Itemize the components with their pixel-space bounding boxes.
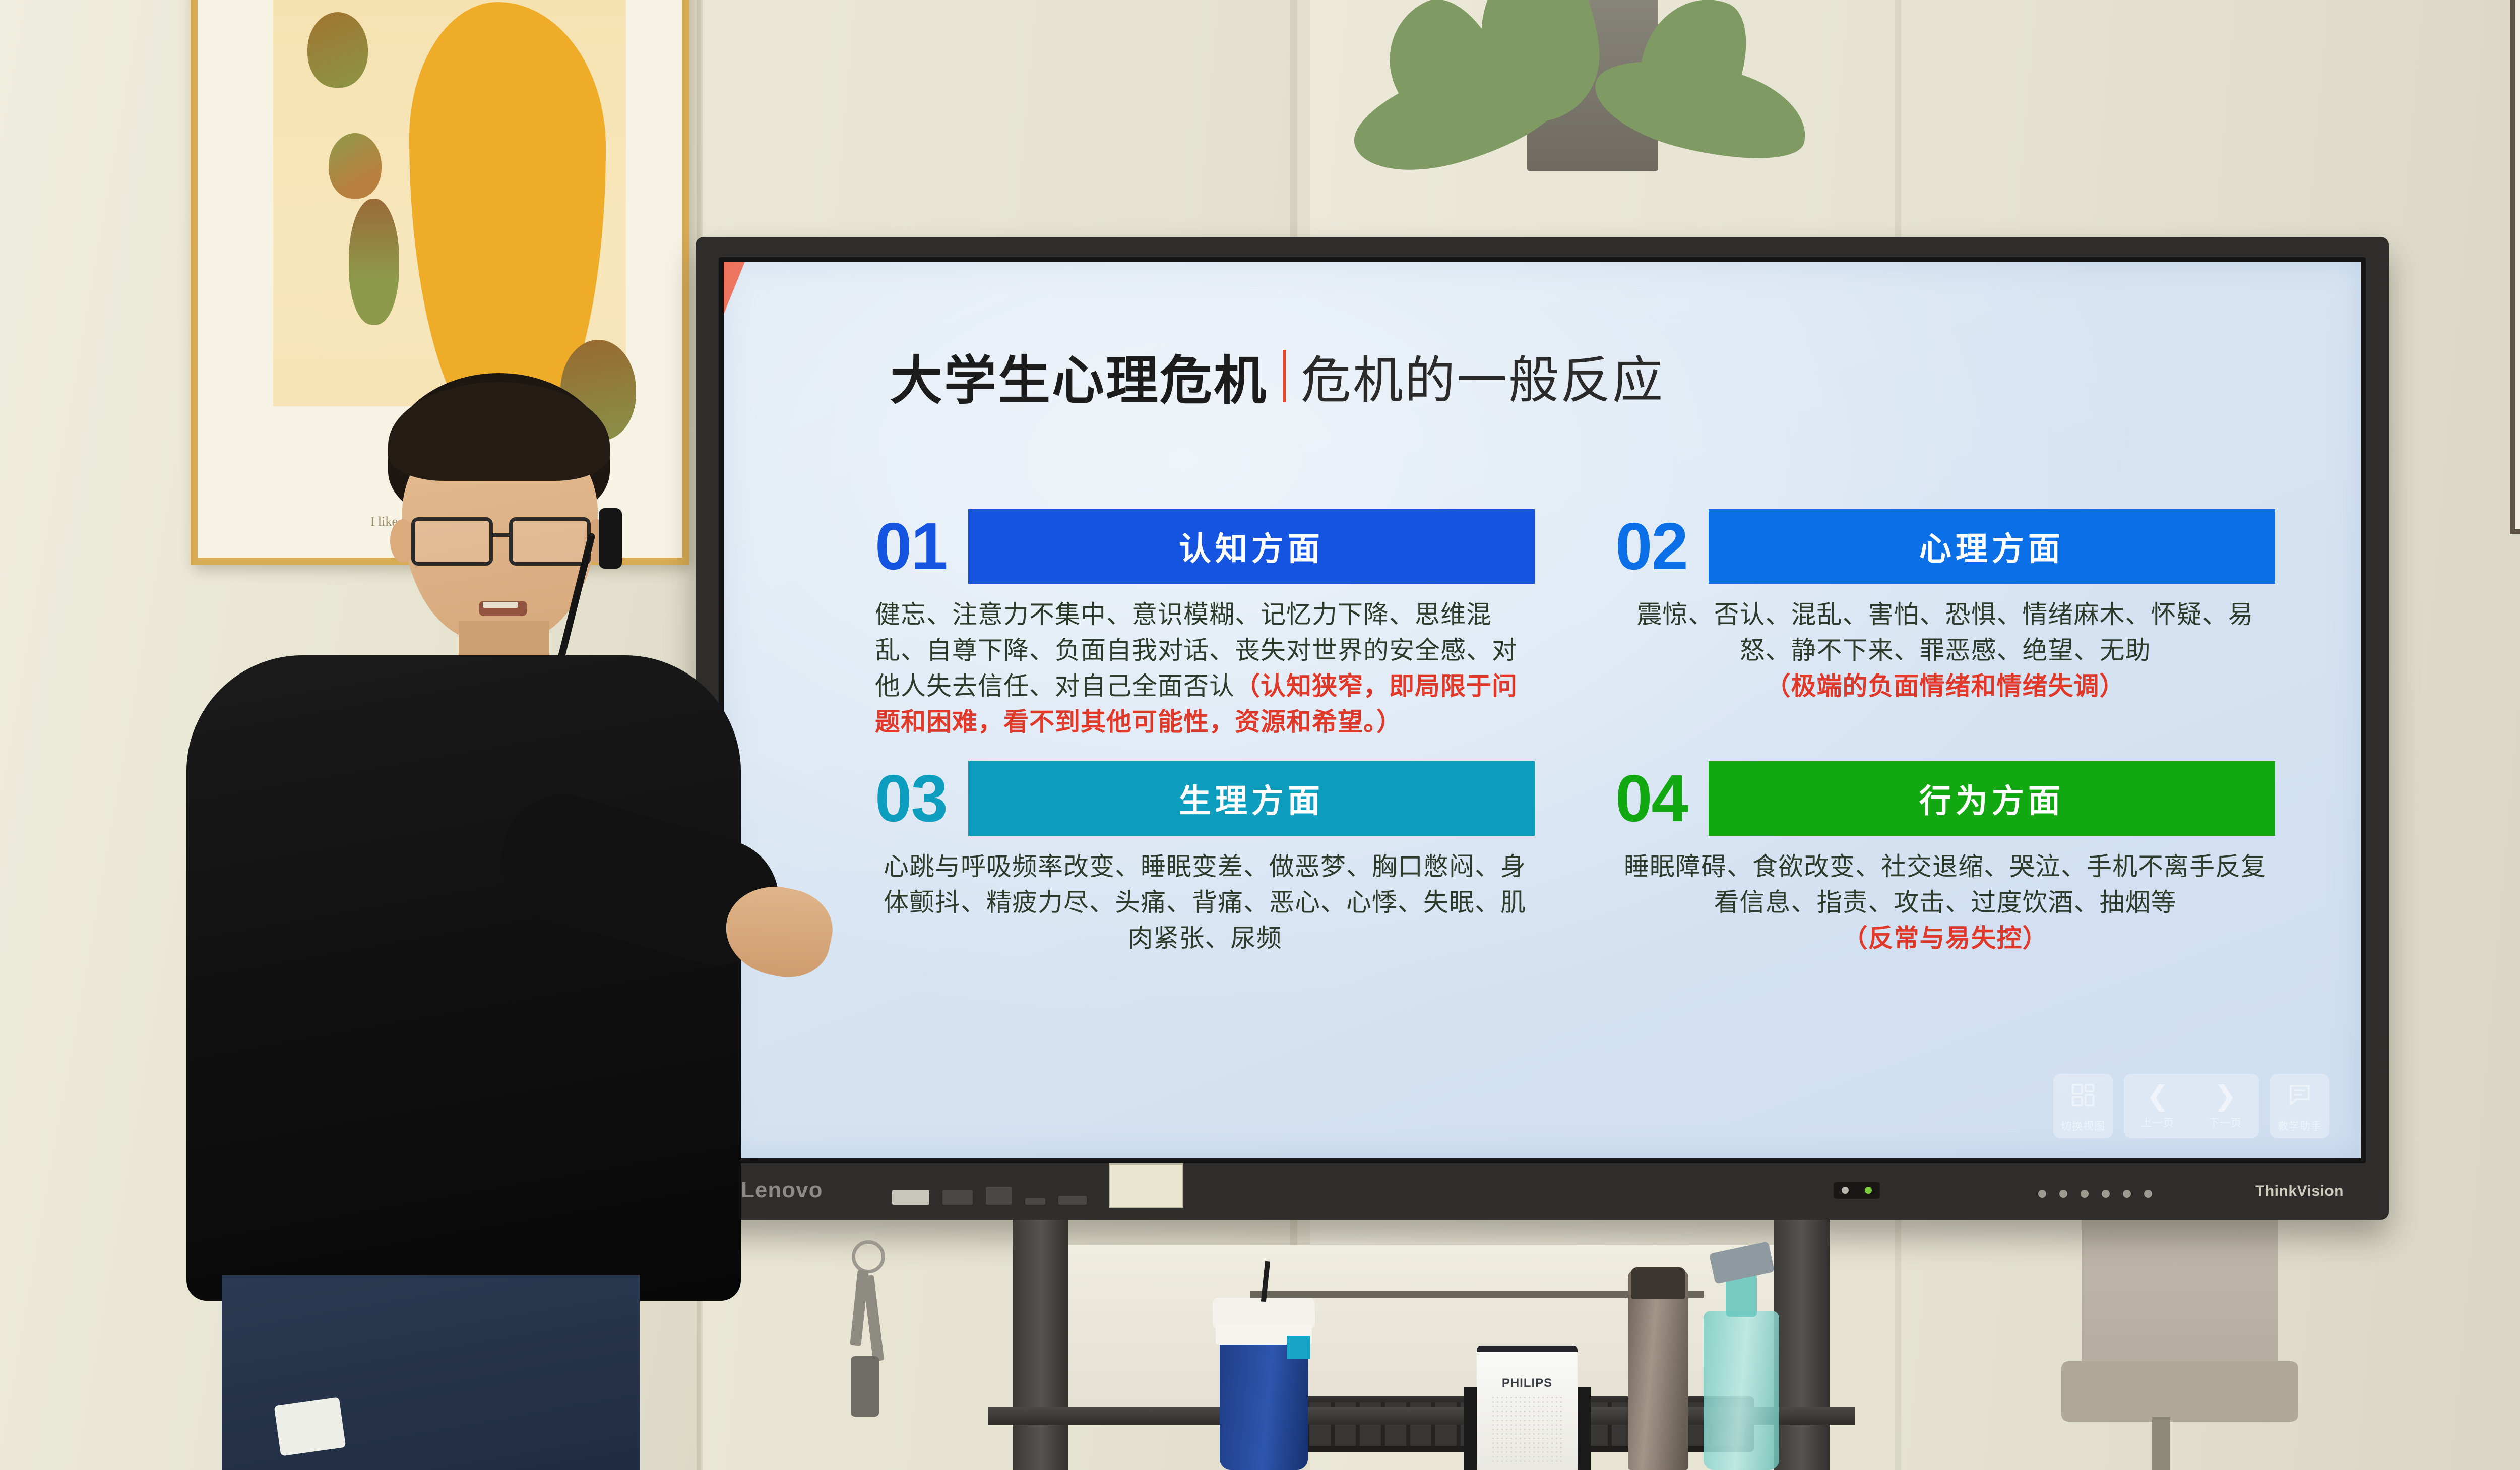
classroom-scene: PINE I like this place very much 大学生心理危机… xyxy=(0,0,2520,1470)
sections-grid: 01 认知方面 健忘、注意力不集中、意识模糊、记忆力下降、思维混乱、自尊下降、负… xyxy=(875,509,2275,956)
interactive-flat-panel-display[interactable]: 大学生心理危机 危机的一般反应 01 认知方面 健忘 xyxy=(696,237,2389,1220)
display-stand-column-left xyxy=(1013,1220,1068,1470)
display-stand-column-right xyxy=(1774,1220,1830,1470)
ir-sensor-dot xyxy=(2144,1190,2152,1198)
activity-led xyxy=(1865,1187,1872,1194)
section-body-text: 心跳与呼吸频率改变、睡眠变差、做恶梦、胸口憋闷、身体颤抖、精疲力尽、头痛、背痛、… xyxy=(884,852,1526,952)
eyeglasses-lens xyxy=(411,517,493,566)
thermos-bottle xyxy=(1628,1270,1688,1470)
section-number: 01 xyxy=(875,513,947,580)
section-card-02: 02 心理方面 震惊、否认、混乱、害怕、恐惧、情绪麻木、怀疑、易怒、静不下来、罪… xyxy=(1615,509,2275,740)
teaching-assistant-label: 教学助手 xyxy=(2278,1118,2322,1133)
speaker-strap xyxy=(1464,1387,1477,1470)
section-label-pill: 心理方面 xyxy=(1709,509,2275,584)
thinkvision-logo: ThinkVision xyxy=(2255,1183,2344,1200)
section-body-04: 睡眠障碍、食欲改变、社交退缩、哭泣、手机不离手反复看信息、指责、攻击、过度饮酒、… xyxy=(1615,849,2275,956)
eyeglasses-lens xyxy=(509,517,591,566)
thermos-cap xyxy=(1631,1267,1685,1299)
section-label: 心理方面 xyxy=(1919,523,2064,570)
section-body-highlight: （反常与易失控） xyxy=(1843,924,2048,952)
io-port-cluster[interactable] xyxy=(892,1187,1087,1205)
acorn-illustration xyxy=(349,199,399,325)
display-bezel: 大学生心理危机 危机的一般反应 01 认知方面 健忘 xyxy=(719,257,2366,1163)
key xyxy=(863,1275,885,1361)
chevron-left-icon: ❮ xyxy=(2146,1082,2169,1110)
usb-port[interactable] xyxy=(892,1190,929,1205)
ir-sensor-dot xyxy=(2059,1190,2067,1198)
previous-page-button[interactable]: ❮ 上一页 xyxy=(2124,1074,2191,1138)
presentation-screen[interactable]: 大学生心理危机 危机的一般反应 01 认知方面 健忘 xyxy=(724,262,2361,1158)
slide-subtitle: 危机的一般反应 xyxy=(1301,339,1664,412)
section-card-03: 03 生理方面 心跳与呼吸频率改变、睡眠变差、做恶梦、胸口憋闷、身体颤抖、精疲力… xyxy=(875,761,1535,956)
black-sweater xyxy=(186,655,741,1301)
wall-frame-right xyxy=(2510,0,2520,534)
hanging-keys xyxy=(837,1240,897,1442)
headset-earpiece xyxy=(599,508,622,569)
section-body-02: 震惊、否认、混乱、害怕、恐惧、情绪麻木、怀疑、易怒、静不下来、罪恶感、绝望、无助… xyxy=(1615,597,2275,704)
section-label: 行为方面 xyxy=(1919,775,2064,822)
section-header: 01 认知方面 xyxy=(875,509,1535,584)
section-body-highlight: （极端的负面情绪和情绪失调） xyxy=(1766,672,2125,700)
teaching-assistant-icon xyxy=(2286,1081,2313,1113)
hair-fringe xyxy=(388,382,610,481)
chevron-right-icon: ❯ xyxy=(2214,1082,2236,1110)
acorn-illustration xyxy=(329,133,382,199)
acorn-illustration xyxy=(307,12,368,88)
speaker-brand-label: PHILIPS xyxy=(1477,1376,1578,1390)
next-page-button[interactable]: ❯ 下一页 xyxy=(2191,1074,2259,1138)
compliance-sticker xyxy=(1109,1163,1183,1208)
staghorn-fern-plant xyxy=(1331,0,1814,222)
ir-sensor-dot xyxy=(2081,1190,2089,1198)
status-led-group xyxy=(1834,1182,1880,1199)
audio-jack[interactable] xyxy=(1025,1198,1045,1205)
switch-view-button[interactable]: 切换视图 xyxy=(2053,1074,2113,1138)
poster-artwork xyxy=(273,0,626,406)
slide-header: 大学生心理危机 危机的一般反应 xyxy=(890,338,1664,414)
usb-port[interactable] xyxy=(942,1190,973,1205)
section-body-text: 震惊、否认、混乱、害怕、恐惧、情绪麻木、怀疑、易怒、静不下来、罪恶感、绝望、无助 xyxy=(1637,600,2254,664)
teaching-assistant-button[interactable]: 教学助手 xyxy=(2270,1074,2329,1138)
office-chair-leg xyxy=(2152,1417,2170,1470)
section-body-01: 健忘、注意力不集中、意识模糊、记忆力下降、思维混乱、自尊下降、负面自我对话、丧失… xyxy=(875,597,1535,740)
section-body-text: 睡眠障碍、食欲改变、社交退缩、哭泣、手机不离手反复看信息、指责、攻击、过度饮酒、… xyxy=(1624,852,2266,916)
section-header: 04 行为方面 xyxy=(1615,761,2275,836)
key-ring xyxy=(852,1240,885,1273)
previous-page-label: 上一页 xyxy=(2141,1115,2174,1130)
section-header: 02 心理方面 xyxy=(1615,509,2275,584)
switch-view-label: 切换视图 xyxy=(2061,1118,2105,1133)
cup-logo xyxy=(1287,1336,1310,1359)
hdmi-port[interactable] xyxy=(986,1187,1012,1205)
page-title: 大学生心理危机 xyxy=(890,338,1268,414)
section-label-pill: 生理方面 xyxy=(968,761,1535,836)
title-divider xyxy=(1283,350,1286,402)
section-label-pill: 认知方面 xyxy=(968,509,1535,584)
speaker-strap xyxy=(1578,1387,1591,1470)
mouth xyxy=(479,601,527,616)
ir-sensor-dot xyxy=(2123,1190,2131,1198)
section-label: 认知方面 xyxy=(1179,523,1324,570)
speaker-grille xyxy=(1491,1395,1563,1465)
presentation-toolbar[interactable]: 切换视图 ❮ 上一页 ❯ 下一页 xyxy=(2053,1074,2329,1138)
philips-speaker: PHILIPS xyxy=(1477,1346,1578,1470)
power-led xyxy=(1842,1187,1849,1194)
page-nav-group[interactable]: ❮ 上一页 ❯ 下一页 xyxy=(2124,1074,2259,1138)
section-label-pill: 行为方面 xyxy=(1709,761,2275,836)
eyeglasses-bridge xyxy=(492,533,511,537)
layout-grid-icon xyxy=(2069,1081,2097,1113)
key-fob xyxy=(851,1356,879,1417)
office-chair-seat xyxy=(2061,1361,2298,1422)
section-card-04: 04 行为方面 睡眠障碍、食欲改变、社交退缩、哭泣、手机不离手反复看信息、指责、… xyxy=(1615,761,2275,956)
presenter xyxy=(126,373,791,1470)
ir-sensor-dot xyxy=(2038,1190,2046,1198)
ir-sensor-array xyxy=(2038,1190,2152,1198)
next-page-label: 下一页 xyxy=(2209,1115,2242,1130)
spray-bottle xyxy=(1704,1311,1779,1470)
section-number: 04 xyxy=(1615,765,1687,832)
presenter-remote[interactable] xyxy=(274,1397,346,1456)
section-number: 02 xyxy=(1615,513,1687,580)
ir-sensor-dot xyxy=(2102,1190,2110,1198)
section-header: 03 生理方面 xyxy=(875,761,1535,836)
section-number: 03 xyxy=(875,765,947,832)
section-label: 生理方面 xyxy=(1179,775,1324,822)
power-port[interactable] xyxy=(1058,1196,1087,1205)
section-body-03: 心跳与呼吸频率改变、睡眠变差、做恶梦、胸口憋闷、身体颤抖、精疲力尽、头痛、背痛、… xyxy=(875,849,1535,956)
coffee-cup xyxy=(1220,1321,1308,1470)
section-card-01: 01 认知方面 健忘、注意力不集中、意识模糊、记忆力下降、思维混乱、自尊下降、负… xyxy=(875,509,1535,740)
